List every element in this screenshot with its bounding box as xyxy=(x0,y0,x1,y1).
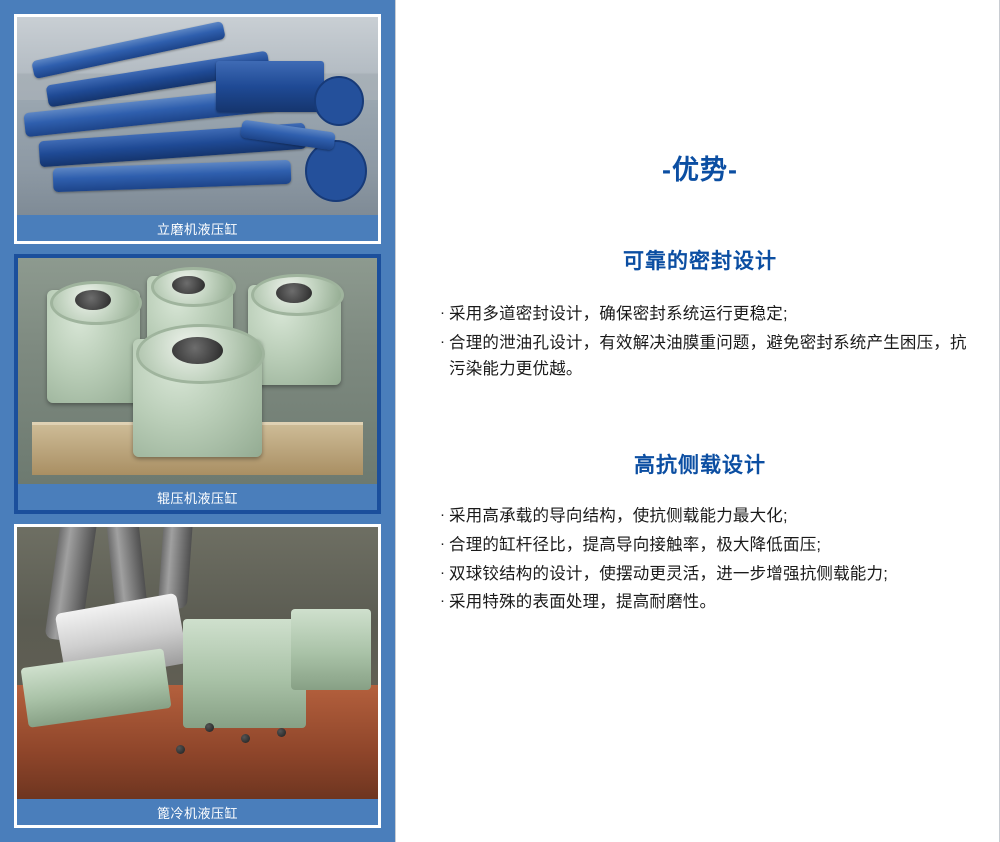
image-column: 立磨机液压缸 辊压机液压缸 xyxy=(0,0,395,842)
bullet-marker-icon: · xyxy=(438,301,449,325)
bullet-marker-icon: · xyxy=(438,330,449,354)
list-item: · 采用多道密封设计，确保密封系统运行更稳定; xyxy=(438,301,972,328)
list-item: · 采用特殊的表面处理，提高耐磨性。 xyxy=(438,589,972,616)
photo-caption-wrap-2: 辊压机液压缸 xyxy=(18,484,377,510)
bullet-list-side-load: · 采用高承载的导向结构，使抗侧载能力最大化; · 合理的缸杆径比，提高导向接触… xyxy=(428,503,972,616)
bullet-marker-icon: · xyxy=(438,589,449,613)
bolt xyxy=(176,745,185,754)
photo-caption-2: 辊压机液压缸 xyxy=(18,484,377,510)
page-title: -优势- xyxy=(428,148,972,187)
list-item-text: 合理的缸杆径比，提高导向接触率，极大降低面压; xyxy=(449,532,972,559)
list-item-text: 采用特殊的表面处理，提高耐磨性。 xyxy=(449,589,972,616)
section-title-sealing: 可靠的密封设计 xyxy=(428,245,972,275)
bullet-marker-icon: · xyxy=(438,561,449,585)
cylinder-hub xyxy=(75,290,111,310)
list-item-text: 双球铰结构的设计，使摆动更灵活，进一步增强抗侧载能力; xyxy=(449,561,972,588)
photo-caption-3: 篦冷机液压缸 xyxy=(17,799,378,825)
photo-roller-press-cylinder xyxy=(18,258,377,484)
photo-card-1: 立磨机液压缸 xyxy=(14,14,381,244)
list-item-text: 采用多道密封设计，确保密封系统运行更稳定; xyxy=(449,301,972,328)
cylinder-hub xyxy=(172,276,204,294)
list-item: · 采用高承载的导向结构，使抗侧载能力最大化; xyxy=(438,503,972,530)
cylinder-housing xyxy=(183,619,306,728)
content-column: -优势- 可靠的密封设计 · 采用多道密封设计，确保密封系统运行更稳定; · 合… xyxy=(396,0,1000,842)
photo-grate-cooler-cylinder xyxy=(17,527,378,799)
list-item-text: 合理的泄油孔设计，有效解决油膜重问题，避免密封系统产生困压，抗污染能力更优越。 xyxy=(449,330,972,383)
cylinder-block xyxy=(216,61,324,112)
bullet-marker-icon: · xyxy=(438,532,449,556)
section-sealing-design: 可靠的密封设计 · 采用多道密封设计，确保密封系统运行更稳定; · 合理的泄油孔… xyxy=(428,245,972,383)
cylinder-housing xyxy=(291,609,370,691)
photo-caption-1: 立磨机液压缸 xyxy=(17,215,378,241)
photo-caption-wrap-3: 篦冷机液压缸 xyxy=(17,799,378,825)
list-item: · 合理的泄油孔设计，有效解决油膜重问题，避免密封系统产生困压，抗污染能力更优越… xyxy=(438,330,972,383)
bolt xyxy=(205,723,214,732)
list-item: · 双球铰结构的设计，使摆动更灵活，进一步增强抗侧载能力; xyxy=(438,561,972,588)
flange-ring xyxy=(314,76,364,126)
photo-card-2: 辊压机液压缸 xyxy=(14,254,381,514)
section-side-load-design: 高抗侧载设计 · 采用高承载的导向结构，使抗侧载能力最大化; · 合理的缸杆径比… xyxy=(428,449,972,616)
photo-caption-wrap-1: 立磨机液压缸 xyxy=(17,215,378,241)
list-item: · 合理的缸杆径比，提高导向接触率，极大降低面压; xyxy=(438,532,972,559)
photo-vertical-mill-cylinder xyxy=(17,17,378,215)
bullet-list-sealing: · 采用多道密封设计，确保密封系统运行更稳定; · 合理的泄油孔设计，有效解决油… xyxy=(428,301,972,383)
list-item-text: 采用高承载的导向结构，使抗侧载能力最大化; xyxy=(449,503,972,530)
bullet-marker-icon: · xyxy=(438,503,449,527)
section-title-side-load: 高抗侧载设计 xyxy=(428,449,972,479)
cylinder-hub-front xyxy=(172,337,222,364)
bolt xyxy=(241,734,250,743)
page-root: 立磨机液压缸 辊压机液压缸 xyxy=(0,0,1000,842)
photo-card-3: 篦冷机液压缸 xyxy=(14,524,381,828)
flange-ring xyxy=(305,140,367,202)
